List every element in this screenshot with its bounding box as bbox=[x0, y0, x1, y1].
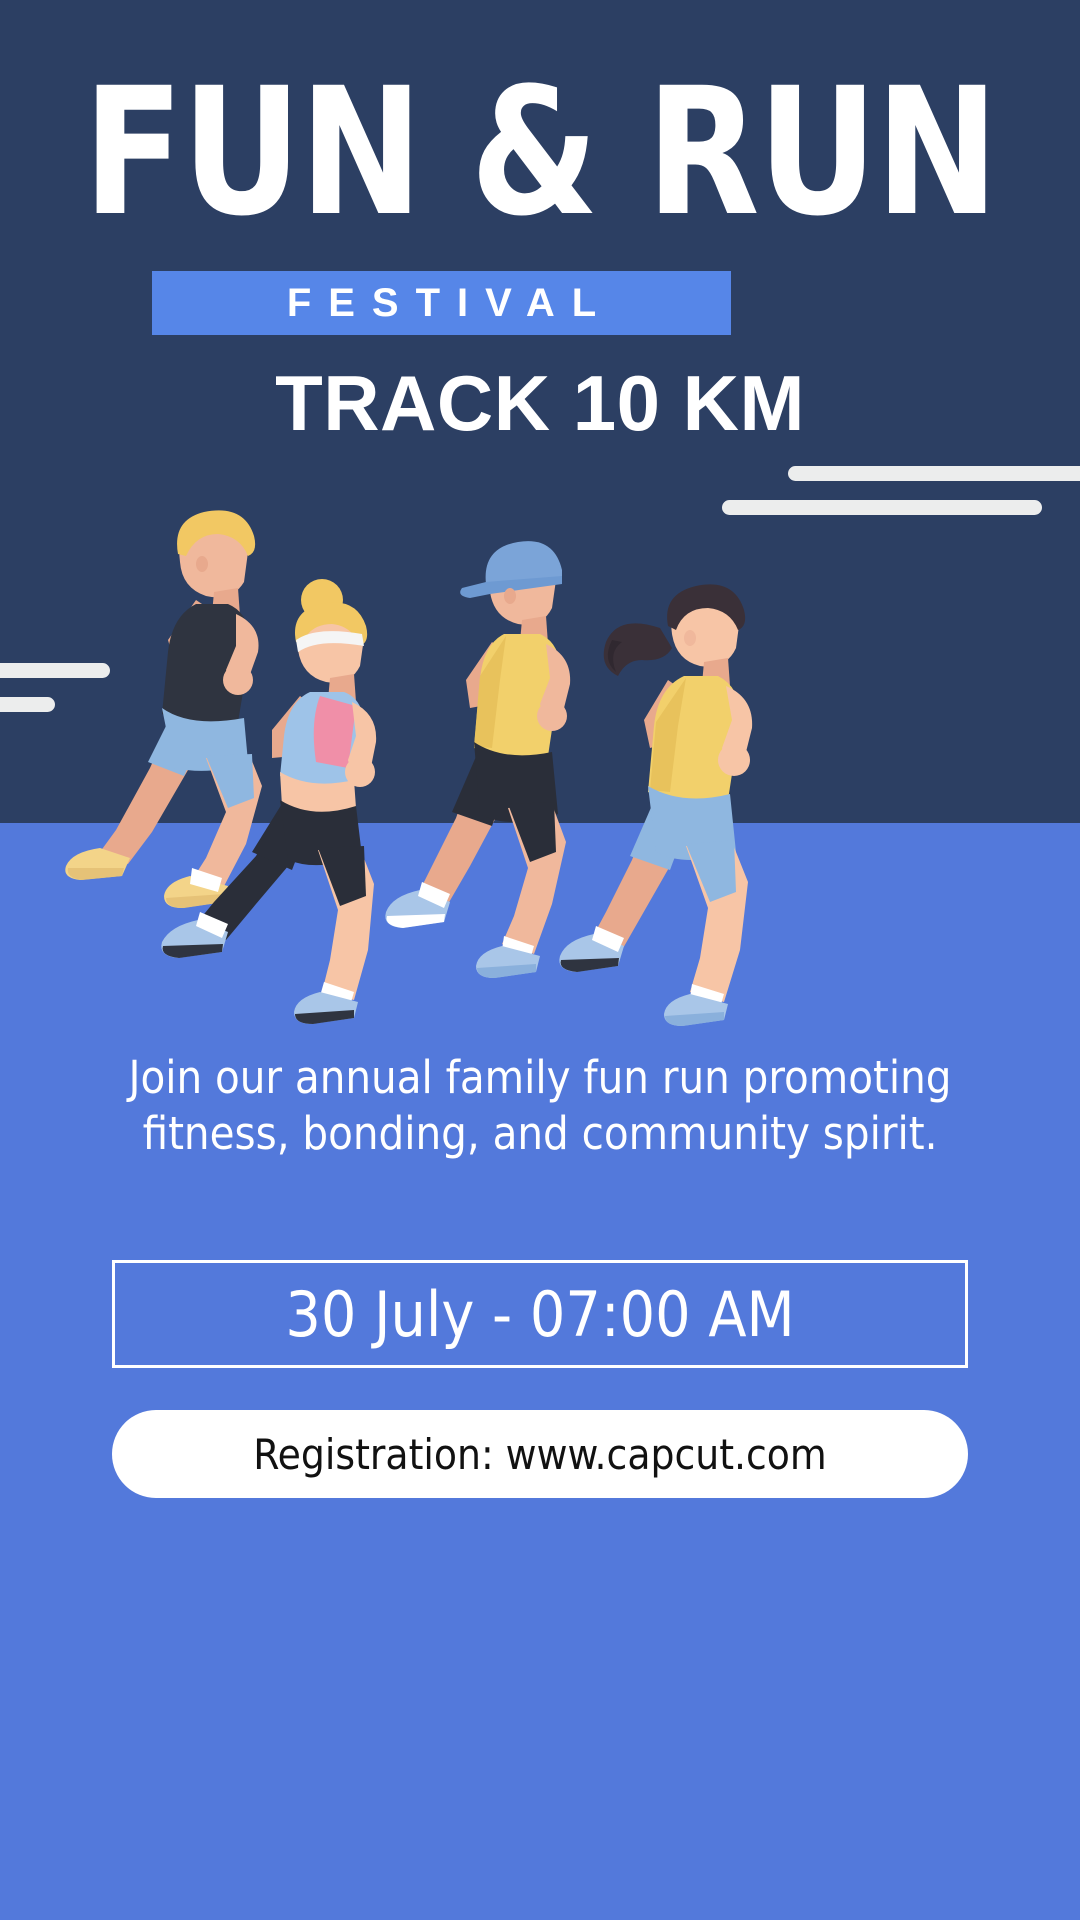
runner-1-blond-black-tee bbox=[65, 510, 262, 908]
event-date-time: 30 July - 07:00 AM bbox=[285, 1278, 794, 1351]
event-date-box: 30 July - 07:00 AM bbox=[112, 1260, 968, 1368]
poster-subtitle: TRACK 10 KM bbox=[0, 355, 1080, 451]
runner-4-woman-ponytail-yellow-tee bbox=[559, 584, 752, 1026]
poster-title: FUN & RUN bbox=[38, 78, 1042, 228]
poster-description: Join our annual family fun run promoting… bbox=[80, 1050, 1000, 1162]
poster-canvas: FUN & RUN FESTIVAL TRACK 10 KM bbox=[0, 0, 1080, 1920]
registration-button[interactable]: Registration: www.capcut.com bbox=[112, 1410, 968, 1498]
runner-3-man-blue-cap-tank bbox=[385, 541, 570, 978]
festival-label: FESTIVAL bbox=[270, 281, 613, 326]
runners-illustration bbox=[0, 500, 1080, 1060]
speed-line-right-top-icon bbox=[788, 466, 1080, 481]
registration-label: Registration: www.capcut.com bbox=[253, 1430, 826, 1479]
festival-band: FESTIVAL bbox=[152, 271, 731, 335]
